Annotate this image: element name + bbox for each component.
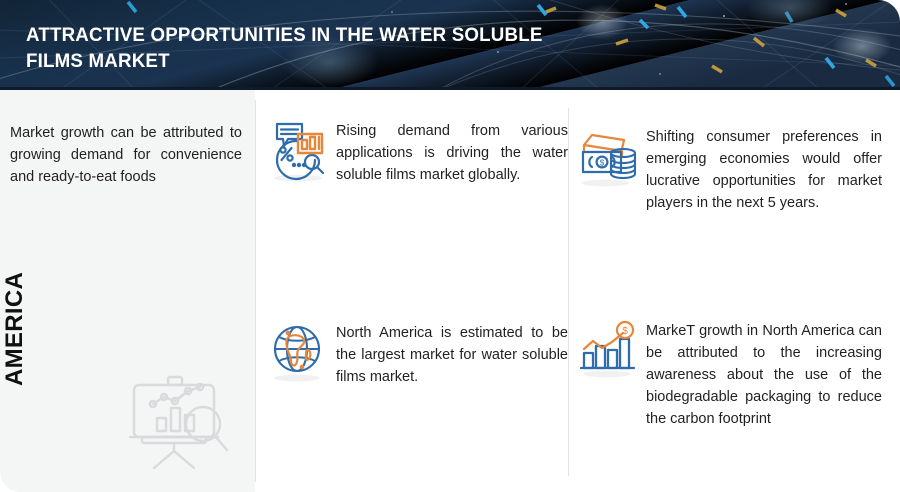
bar-chart-growth-dollar-icon: $ (578, 320, 640, 382)
intro-text: Market growth can be attributed to growi… (10, 122, 242, 188)
header-banner: ATTRACTIVE OPPORTUNITIES IN THE WATER SO… (0, 0, 900, 90)
block-text: Shifting consumer preferences in emergin… (646, 126, 882, 214)
column-divider-2 (568, 108, 569, 476)
block-text: MarkeT growth in North America can be at… (646, 320, 882, 430)
column-divider-1 (255, 100, 256, 482)
region-label: NORTH AMERICA (0, 216, 28, 386)
analytics-pie-bar-magnifier-icon (268, 120, 330, 182)
infographic-card: ATTRACTIVE OPPORTUNITIES IN THE WATER SO… (0, 0, 900, 492)
money-cash-coins-icon: $ (578, 126, 640, 188)
block-text: Rising demand from various applications … (336, 120, 568, 186)
svg-text:$: $ (622, 326, 628, 337)
svg-text:$: $ (600, 159, 605, 168)
presentation-board-chart-magnifier-icon (120, 372, 236, 472)
globe-world-icon (268, 322, 330, 384)
header-bottom-rule (0, 87, 900, 90)
page-title: ATTRACTIVE OPPORTUNITIES IN THE WATER SO… (26, 22, 564, 74)
block-text: North America is estimated to be the lar… (336, 322, 568, 388)
